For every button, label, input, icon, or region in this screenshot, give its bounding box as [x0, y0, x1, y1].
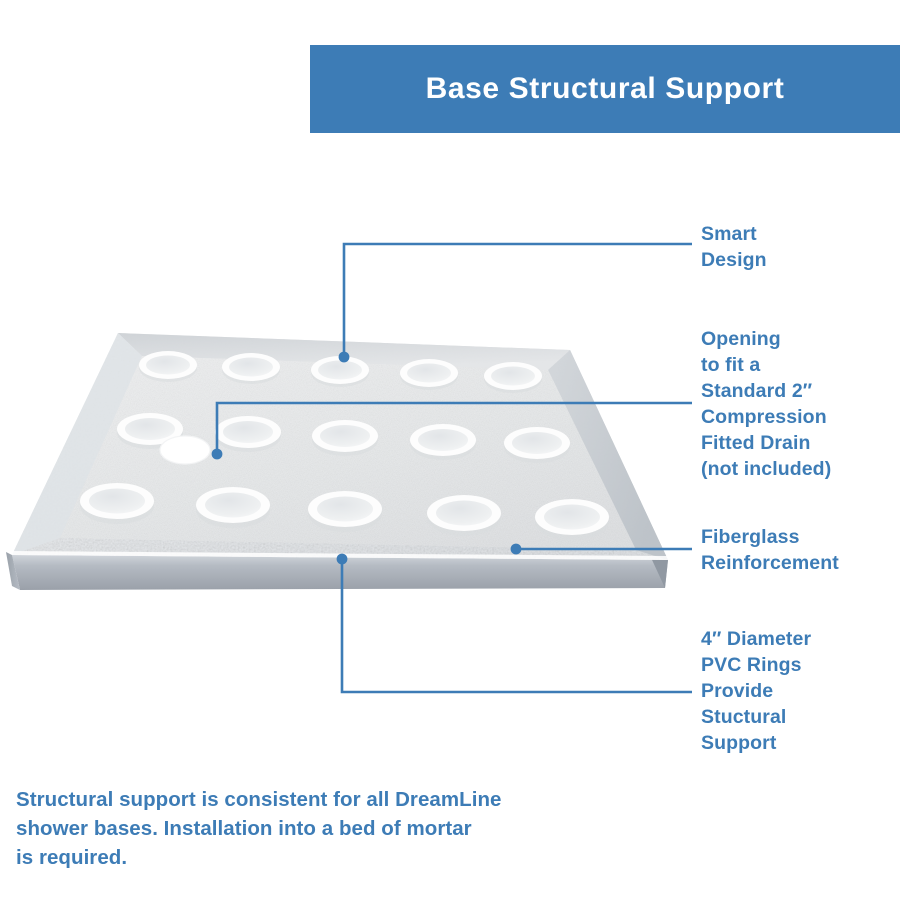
pvc-ring — [504, 427, 570, 463]
callout-line: Smart — [701, 222, 767, 248]
pvc-ring — [410, 424, 476, 460]
callout-line: PVC Rings — [701, 653, 811, 679]
callout-line: Provide — [701, 679, 811, 705]
pvc-ring — [215, 416, 281, 452]
product-illustration — [0, 300, 700, 610]
pvc-ring — [139, 351, 197, 382]
pvc-ring — [308, 491, 382, 532]
callout-line: Design — [701, 248, 767, 274]
header-banner: Base Structural Support — [310, 45, 900, 133]
callout-line: 4″ Diameter — [701, 627, 811, 653]
callout-smart-design: Smart Design — [701, 222, 767, 274]
pvc-ring — [222, 353, 280, 384]
footer-note: Structural support is consistent for all… — [16, 785, 636, 872]
callout-pvc-rings: 4″ Diameter PVC Rings Provide Stuctural … — [701, 627, 811, 757]
shower-base-drawing — [0, 300, 700, 610]
pvc-ring — [196, 487, 270, 528]
pvc-ring — [484, 362, 542, 393]
pvc-ring — [80, 483, 154, 524]
callout-line: Support — [701, 731, 811, 757]
page-root: Base Structural Support — [0, 0, 900, 900]
pvc-ring — [311, 356, 369, 387]
pvc-ring — [535, 499, 609, 540]
page-title: Base Structural Support — [426, 74, 785, 104]
callout-line: Reinforcement — [701, 551, 839, 577]
pvc-ring — [312, 420, 378, 456]
pvc-ring — [427, 495, 501, 536]
callout-line: Stuctural — [701, 705, 811, 731]
callout-line: Compression — [701, 405, 831, 431]
footer-note-line: shower bases. Installation into a bed of… — [16, 814, 636, 843]
footer-note-line: is required. — [16, 843, 636, 872]
drain-opening-hole — [160, 436, 210, 464]
callout-fiberglass: Fiberglass Reinforcement — [701, 525, 839, 577]
callout-drain-opening: Opening to fit a Standard 2″ Compression… — [701, 327, 831, 483]
callout-line: Fiberglass — [701, 525, 839, 551]
callout-line: to fit a — [701, 353, 831, 379]
callout-line: (not included) — [701, 457, 831, 483]
callout-line: Standard 2″ — [701, 379, 831, 405]
callout-line: Opening — [701, 327, 831, 353]
pvc-ring — [400, 359, 458, 390]
footer-note-line: Structural support is consistent for all… — [16, 785, 636, 814]
callout-line: Fitted Drain — [701, 431, 831, 457]
base-front-side-wall — [12, 555, 668, 590]
